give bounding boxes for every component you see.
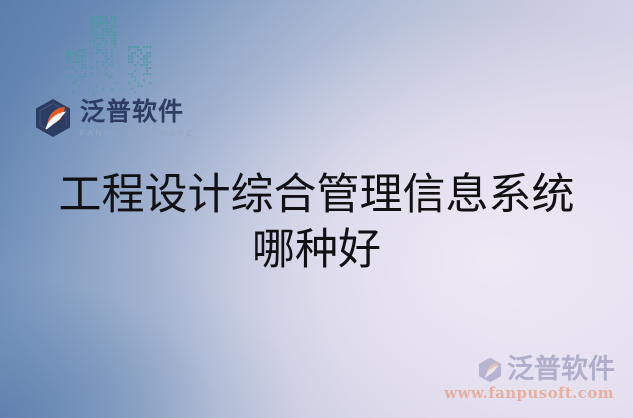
- watermark-url: www.fanpusoft.com: [444, 384, 614, 402]
- watermark-brand-row: 泛普软件: [477, 356, 615, 383]
- page-title-line-2: 哪种好: [0, 223, 633, 278]
- poster-canvas: 泛普软件 FANPU SOFTWARE 工程设计综合管理信息系统 哪种好 泛普软…: [0, 0, 633, 418]
- pixel-skyline-icon: [66, 16, 160, 100]
- watermark-name-cn: 泛普软件: [507, 356, 615, 383]
- brand-name-en: FANPU SOFTWARE: [80, 129, 195, 138]
- page-title-line-1: 工程设计综合管理信息系统: [0, 168, 633, 223]
- brand-name-cn: 泛普软件: [80, 99, 195, 125]
- fanpu-hexagon-logo-icon: [33, 98, 73, 138]
- watermark: 泛普软件 www.fanpusoft.com: [444, 356, 615, 402]
- page-title: 工程设计综合管理信息系统 哪种好: [0, 168, 633, 278]
- watermark-fanpu-hexagon-logo-icon: [477, 357, 503, 383]
- brand-wordmark: 泛普软件 FANPU SOFTWARE: [80, 99, 195, 138]
- brand-logo: 泛普软件 FANPU SOFTWARE: [33, 98, 195, 138]
